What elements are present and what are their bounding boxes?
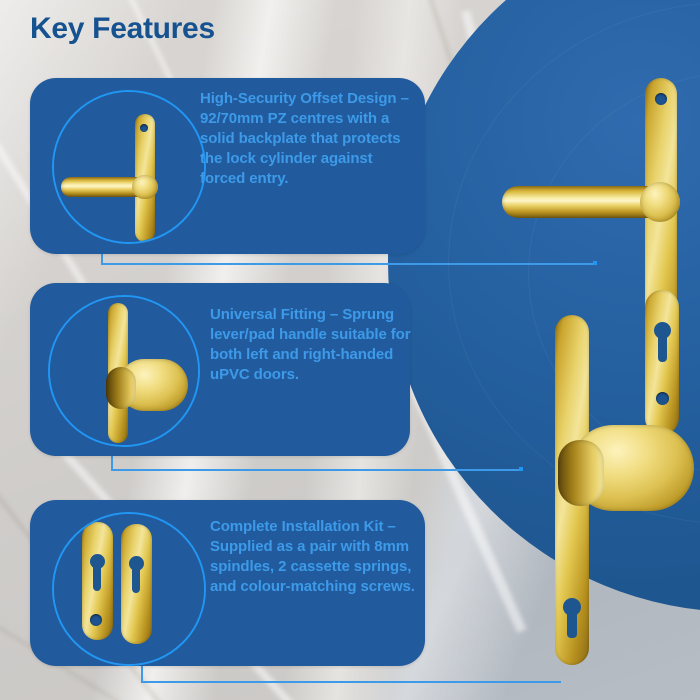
connector-line-3-horizontal bbox=[141, 681, 561, 683]
thumb3-screw-left bbox=[90, 614, 102, 626]
feature-card-high-security-offset-design[interactable]: High-Security Offset Design – 92/70mm PZ… bbox=[30, 78, 425, 254]
hero-screw-euro bbox=[656, 392, 669, 405]
connector-line-1-horizontal bbox=[101, 263, 595, 265]
hero-euro-cylinder-slot bbox=[658, 332, 667, 362]
thumbnail-scene-1 bbox=[54, 92, 204, 242]
feature-text-2: Universal Fitting – Sprung lever/pad han… bbox=[210, 305, 415, 385]
feature-thumbnail-2 bbox=[48, 295, 200, 447]
thumb1-lever-hub bbox=[132, 175, 158, 199]
feature-text-1: High-Security Offset Design – 92/70mm PZ… bbox=[200, 89, 415, 189]
thumb1-screw bbox=[140, 124, 148, 132]
thumbnail-scene-2 bbox=[50, 297, 198, 445]
hero-pad-neck bbox=[558, 440, 604, 506]
connector-line-2-horizontal bbox=[111, 469, 521, 471]
hero-lever-hub bbox=[640, 182, 680, 222]
thumb3-keyslot-right bbox=[132, 565, 140, 593]
thumbnail-scene-3 bbox=[54, 514, 204, 664]
poster-canvas: High-Security Offset Design – 92/70mm PZ… bbox=[0, 0, 700, 700]
thumb2-pad-neck bbox=[106, 367, 136, 409]
feature-card-complete-installation-kit[interactable]: Complete Installation Kit – Supplied as … bbox=[30, 500, 425, 666]
feature-thumbnail-1 bbox=[52, 90, 206, 244]
page-title: Key Features bbox=[30, 12, 215, 46]
connector-endpoint-1 bbox=[593, 261, 597, 265]
hero-screw-upper bbox=[655, 93, 667, 105]
hero-lower-keyslot bbox=[567, 608, 577, 638]
connector-endpoint-2 bbox=[519, 467, 523, 471]
hero-euro-backplate bbox=[645, 290, 679, 435]
feature-text-3: Complete Installation Kit – Supplied as … bbox=[210, 517, 425, 597]
feature-card-universal-fitting[interactable]: Universal Fitting – Sprung lever/pad han… bbox=[30, 283, 410, 456]
feature-thumbnail-3 bbox=[52, 512, 206, 666]
thumb3-keyslot-left bbox=[93, 563, 101, 591]
